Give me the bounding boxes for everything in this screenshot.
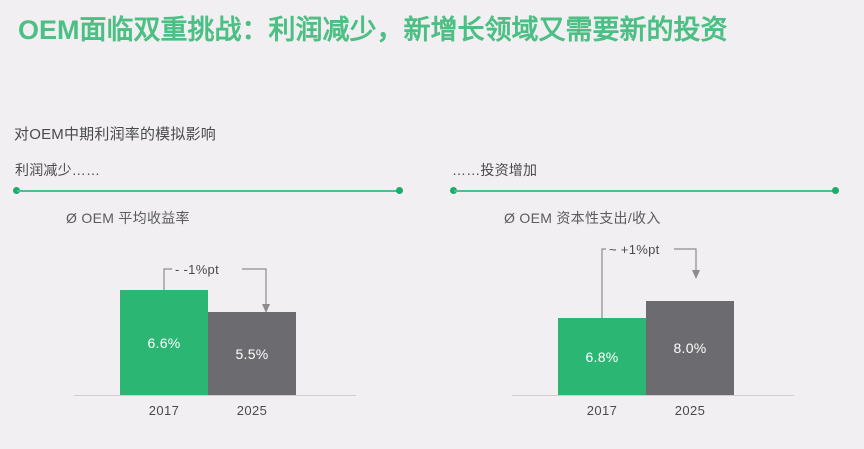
section-divider-left: [13, 186, 403, 195]
bar-2017[interactable]: 6.6%: [120, 290, 208, 395]
bar-value-label: 8.0%: [673, 340, 706, 356]
page-subtitle: 对OEM中期利润率的模拟影响: [14, 123, 216, 144]
section-label-profit-decline: 利润减少……: [15, 160, 403, 180]
x-tick-label-2025: 2025: [208, 403, 296, 418]
section-header-left: 利润减少……: [13, 160, 403, 195]
chart-oem-average-return: Ø OEM 平均收益率 - -1%pt 6.6% 5.5% 2017 2025: [60, 208, 400, 424]
x-tick-label-2017: 2017: [120, 403, 208, 418]
bar-2025[interactable]: 8.0%: [646, 301, 734, 395]
plot-area: - -1%pt 6.6% 5.5% 2017 2025: [60, 228, 400, 424]
bar-2017[interactable]: 6.8%: [558, 318, 646, 395]
divider-line: [454, 190, 835, 192]
x-axis-line: [512, 395, 794, 396]
x-axis-line: [74, 395, 356, 396]
x-tick-label-2025: 2025: [646, 403, 734, 418]
bar-value-label: 5.5%: [235, 346, 268, 362]
divider-dot-end-icon: [396, 187, 403, 194]
divider-dot-end-icon: [832, 187, 839, 194]
bar-value-label: 6.8%: [585, 349, 618, 365]
section-divider-right: [450, 186, 839, 195]
section-label-investment-increase: ……投资增加: [452, 160, 839, 180]
chart-title: Ø OEM 平均收益率: [66, 208, 400, 228]
chart-title: Ø OEM 资本性支出/收入: [504, 208, 838, 228]
bar-2025[interactable]: 5.5%: [208, 312, 296, 395]
delta-value-label: - -1%pt: [172, 262, 222, 277]
page-title: OEM面临双重挑战：利润减少，新增长领域又需要新的投资: [18, 12, 846, 48]
bar-value-label: 6.6%: [147, 335, 180, 351]
section-header-right: ……投资增加: [450, 160, 839, 195]
chart-oem-capex-over-revenue: Ø OEM 资本性支出/收入 ~ +1%pt 6.8% 8.0% 2017 20…: [498, 208, 838, 424]
delta-value-label: ~ +1%pt: [606, 242, 663, 257]
plot-area: ~ +1%pt 6.8% 8.0% 2017 2025: [498, 228, 838, 424]
x-tick-label-2017: 2017: [558, 403, 646, 418]
divider-line: [17, 190, 399, 192]
